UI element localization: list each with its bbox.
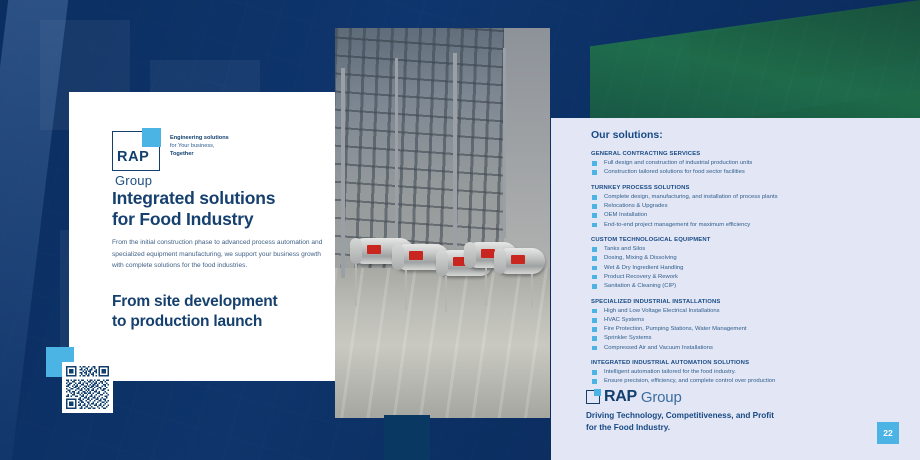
solutions-list-item-label: Product Recovery & Rework [604, 274, 678, 280]
solutions-list-item: Sanitation & Cleaning (CIP) [591, 282, 891, 291]
solutions-section: TURNKEY PROCESS SOLUTIONSComplete design… [591, 185, 891, 230]
page-subtitle-line1: From site development [112, 293, 277, 310]
bullet-square-icon [592, 370, 597, 375]
slide-canvas: RAP Group Engineering solutions for Your… [0, 0, 920, 460]
solutions-section-title: TURNKEY PROCESS SOLUTIONS [591, 185, 891, 191]
solutions-list-item: Wet & Dry Ingredient Handling [591, 264, 891, 273]
page-title-line1: Integrated solutions [112, 188, 275, 208]
bullet-square-icon [592, 266, 597, 271]
solutions-list-item: Fire Protection, Pumping Stations, Water… [591, 325, 891, 334]
solutions-list-item-label: Complete design, manufacturing, and inst… [604, 194, 778, 200]
logo-rap-text: RAP [117, 149, 149, 165]
bullet-square-icon [592, 223, 597, 228]
bullet-square-icon [592, 195, 597, 200]
solutions-list-item: OEM Installation [591, 211, 891, 220]
bullet-square-icon [592, 161, 597, 166]
solutions-list-item-label: Compressed Air and Vacuum Installations [604, 345, 713, 351]
solutions-section: GENERAL CONTRACTING SERVICESFull design … [591, 151, 891, 177]
footer-group-text: Group [641, 389, 682, 406]
solutions-list-item-label: Sprinkler Systems [604, 335, 651, 341]
photo-tank-leg [445, 276, 447, 312]
logo-accent-square-icon [142, 128, 161, 147]
qr-code-icon [66, 366, 109, 409]
qr-code[interactable] [62, 362, 113, 413]
solutions-list-item-label: Ensure precision, efficiency, and comple… [604, 378, 775, 384]
bullet-square-icon [592, 336, 597, 341]
page-title: Integrated solutions for Food Industry [112, 188, 322, 230]
bullet-square-icon [592, 256, 597, 261]
solutions-list-item: Ensure precision, efficiency, and comple… [591, 377, 891, 386]
photo-pipe [395, 58, 398, 258]
solutions-list-item: Tanks and Silos [591, 245, 891, 254]
footer-logo-mark-icon [586, 390, 600, 404]
solutions-section-title: SPECIALIZED INDUSTRIAL INSTALLATIONS [591, 299, 891, 305]
bullet-square-icon [592, 284, 597, 289]
photo-tank [495, 248, 545, 274]
photo-tank-leg [355, 264, 357, 306]
solutions-list-item: Complete design, manufacturing, and inst… [591, 193, 891, 202]
logo-tagline-line1: Engineering solutions [170, 135, 229, 141]
solutions-list-item: Sprinkler Systems [591, 334, 891, 343]
bullet-square-icon [592, 309, 597, 314]
solutions-list-item-label: OEM Installation [604, 212, 647, 218]
rap-logo-mark-icon: RAP [112, 131, 160, 171]
footer-tagline: Driving Technology, Competitiveness, and… [586, 410, 846, 433]
solutions-list-item-label: Construction tailored solutions for food… [604, 169, 745, 175]
solutions-heading: Our solutions: [591, 129, 663, 141]
solutions-list-item-label: Tanks and Silos [604, 246, 645, 252]
solutions-section-title: INTEGRATED INDUSTRIAL AUTOMATION SOLUTIO… [591, 360, 891, 366]
rap-group-logo: RAP Group Engineering solutions for Your… [112, 131, 160, 171]
solutions-list-item-label: High and Low Voltage Electrical Installa… [604, 308, 720, 314]
solutions-list-item: Dosing, Mixing & Dissolving [591, 254, 891, 263]
solutions-list-item: Compressed Air and Vacuum Installations [591, 344, 891, 353]
logo-tagline-line3: Together [170, 151, 194, 157]
bullet-square-icon [592, 346, 597, 351]
solutions-section-title: GENERAL CONTRACTING SERVICES [591, 151, 891, 157]
bg-highlight-strip [0, 0, 68, 460]
bullet-square-icon [592, 275, 597, 280]
solutions-list-item: Full design and construction of industri… [591, 159, 891, 168]
solutions-list-item-label: HVAC Systems [604, 317, 644, 323]
solutions-list-item: Intelligent automation tailored for the … [591, 368, 891, 377]
photo-tank-leg [405, 270, 407, 310]
footer-logo: RAP Group [586, 388, 682, 406]
bullet-square-icon [592, 318, 597, 323]
solutions-list-item: HVAC Systems [591, 316, 891, 325]
solutions-list-item: End-to-end project management for maximu… [591, 221, 891, 230]
solutions-list-item-label: Sanitation & Cleaning (CIP) [604, 283, 676, 289]
solutions-list-item-label: Fire Protection, Pumping Stations, Water… [604, 326, 747, 332]
bullet-square-icon [592, 204, 597, 209]
solutions-list-item: High and Low Voltage Electrical Installa… [591, 307, 891, 316]
photo-tank-leg [531, 274, 533, 308]
logo-tagline-line2: for Your business, [170, 143, 214, 149]
navy-square-decoration [384, 415, 430, 460]
bullet-square-icon [592, 213, 597, 218]
intro-paragraph: From the initial construction phase to a… [112, 237, 324, 272]
logo-tagline: Engineering solutions for Your business,… [170, 134, 250, 159]
footer-tagline-line2: for the Food Industry. [586, 423, 670, 432]
center-photo-food-plant [335, 28, 550, 418]
photo-tank-leg [485, 268, 487, 306]
solutions-list-item: Relocations & Upgrades [591, 202, 891, 211]
solutions-list-item-label: End-to-end project management for maximu… [604, 222, 750, 228]
solutions-list-item: Product Recovery & Rework [591, 273, 891, 282]
solutions-section: INTEGRATED INDUSTRIAL AUTOMATION SOLUTIO… [591, 360, 891, 386]
bullet-square-icon [592, 247, 597, 252]
page-title-line2: for Food Industry [112, 209, 253, 229]
page-subtitle-line2: to production launch [112, 313, 262, 330]
page-number-badge: 22 [877, 422, 899, 444]
solutions-list-item: Construction tailored solutions for food… [591, 168, 891, 177]
logo-group-text: Group [115, 173, 152, 188]
solutions-list-item-label: Intelligent automation tailored for the … [604, 369, 736, 375]
bullet-square-icon [592, 379, 597, 384]
page-subtitle: From site development to production laun… [112, 292, 327, 331]
photo-pipe [503, 48, 506, 238]
solutions-list-item-label: Full design and construction of industri… [604, 160, 752, 166]
solutions-sections: GENERAL CONTRACTING SERVICESFull design … [591, 151, 891, 394]
bullet-square-icon [592, 327, 597, 332]
photo-floor [335, 268, 550, 418]
solutions-section: CUSTOM TECHNOLOGICAL EQUIPMENTTanks and … [591, 237, 891, 291]
solutions-section-title: CUSTOM TECHNOLOGICAL EQUIPMENT [591, 237, 891, 243]
photo-pipe [453, 53, 457, 253]
footer-tagline-line1: Driving Technology, Competitiveness, and… [586, 411, 774, 420]
solutions-section: SPECIALIZED INDUSTRIAL INSTALLATIONSHigh… [591, 299, 891, 353]
photo-pipe [341, 68, 345, 278]
footer-rap-text: RAP [604, 388, 637, 406]
solutions-list-item-label: Relocations & Upgrades [604, 203, 668, 209]
solutions-list-item-label: Dosing, Mixing & Dissolving [604, 255, 677, 261]
bullet-square-icon [592, 170, 597, 175]
solutions-list-item-label: Wet & Dry Ingredient Handling [604, 265, 683, 271]
